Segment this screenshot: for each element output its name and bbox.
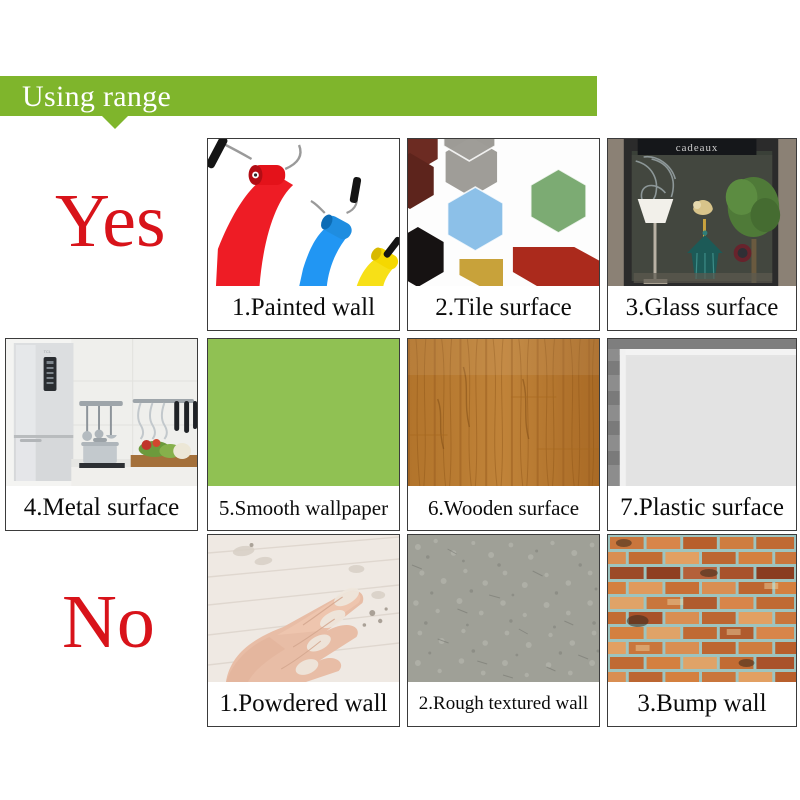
surface-card-caption: 2.Tile surface: [408, 286, 599, 330]
verdict-no-label: No: [62, 584, 155, 660]
wood-planks-image: [408, 339, 599, 487]
hexagon-tiles-image: [408, 139, 599, 287]
plastic-panel-image: [608, 339, 796, 487]
paint-rollers-image: [208, 139, 399, 287]
stucco-texture-image: [408, 535, 599, 683]
surface-card-plastic-surface: 7.Plastic surface: [607, 338, 797, 531]
kitchen-fridge-image: TCL: [6, 339, 197, 487]
banner-notch-triangle: [102, 116, 128, 129]
brick-wall-image: [608, 535, 796, 683]
green-wallpaper-image: [208, 339, 399, 487]
unsuitable-card-powdered-wall: 1.Powdered wall: [207, 534, 400, 727]
svg-text:TCL: TCL: [44, 349, 52, 354]
surface-card-caption: 3.Glass surface: [608, 286, 796, 330]
surface-card-glass-surface: cadeaux: [607, 138, 797, 331]
surface-card-tile-surface: 2.Tile surface: [407, 138, 600, 331]
surface-card-caption: 7.Plastic surface: [608, 486, 796, 530]
surface-card-painted-wall: 1.Painted wall: [207, 138, 400, 331]
surface-card-caption: 1.Painted wall: [208, 286, 399, 330]
header-banner: Using range: [0, 76, 800, 116]
unsuitable-card-rough-textured-wall: 2.Rough textured wall: [407, 534, 600, 727]
surface-card-caption: 6.Wooden surface: [408, 486, 599, 530]
surface-card-caption: 5.Smooth wallpaper: [208, 486, 399, 530]
surface-card-caption: 4.Metal surface: [6, 486, 197, 530]
unsuitable-card-bump-wall: 3.Bump wall: [607, 534, 797, 727]
svg-text:cadeaux: cadeaux: [676, 142, 719, 154]
surface-card-wooden-surface: 6.Wooden surface: [407, 338, 600, 531]
hand-on-chalky-wall-image: [208, 535, 399, 683]
surface-card-metal-surface: TCL: [5, 338, 198, 531]
page-title: Using range: [22, 80, 171, 113]
verdict-yes-label: Yes: [55, 183, 166, 259]
unsuitable-card-caption: 2.Rough textured wall: [408, 682, 599, 726]
surface-card-smooth-wallpaper: 5.Smooth wallpaper: [207, 338, 400, 531]
shop-window-image: cadeaux: [608, 139, 796, 287]
unsuitable-card-caption: 3.Bump wall: [608, 682, 796, 726]
unsuitable-card-caption: 1.Powdered wall: [208, 682, 399, 726]
